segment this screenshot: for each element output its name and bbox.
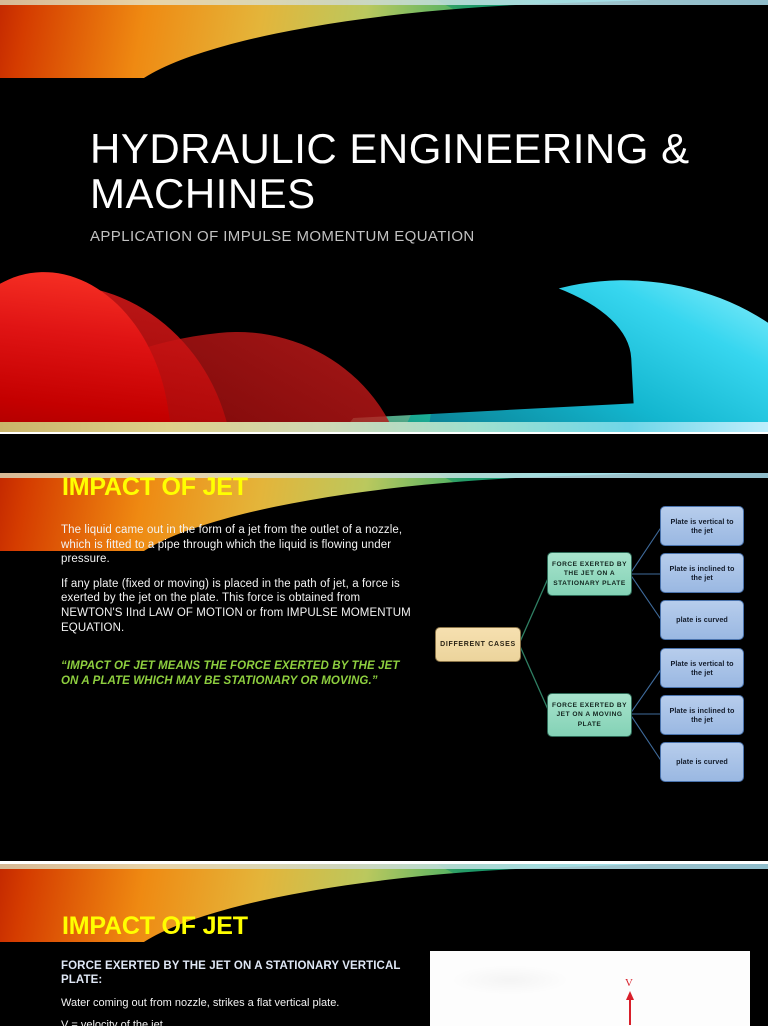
slide-impact-of-jet-overview: IMPACT OF JET The liquid came out in the…	[0, 434, 768, 861]
diagram-leaf-stationary-inclined[interactable]: Plate is inclined to the jet	[660, 553, 744, 593]
slide-body-text: FORCE EXERTED BY THE JET ON A STATIONARY…	[61, 959, 411, 1026]
diagram-node-moving-plate[interactable]: FORCE EXERTED BY JET ON A MOVING PLATE	[547, 693, 632, 737]
figure-scan-artifact	[450, 965, 570, 995]
velocity-arrow-stem-icon	[629, 999, 631, 1025]
slide-title: HYDRAULIC ENGINEERING & MACHINES APPLICA…	[0, 0, 768, 432]
slide-divider	[0, 432, 768, 433]
slide-body-text: The liquid came out in the form of a jet…	[61, 523, 421, 645]
slide-divider	[0, 861, 768, 862]
different-cases-diagram: DIFFERENT CASES FORCE EXERTED BY THE JET…	[425, 496, 768, 796]
slide-stationary-vertical-plate: IMPACT OF JET FORCE EXERTED BY THE JET O…	[0, 864, 768, 1026]
highlight-quote: “IMPACT OF JET MEANS THE FORCE EXERTED B…	[61, 659, 419, 688]
page-title: HYDRAULIC ENGINEERING & MACHINES	[90, 126, 710, 216]
page-subtitle: APPLICATION OF IMPULSE MOMENTUM EQUATION	[90, 228, 710, 245]
slide-heading: IMPACT OF JET	[62, 473, 248, 502]
section-subheading: FORCE EXERTED BY THE JET ON A STATIONARY…	[61, 959, 411, 987]
diagram-leaf-stationary-curved[interactable]: plate is curved	[660, 600, 744, 640]
diagram-leaf-stationary-vertical[interactable]: Plate is vertical to the jet	[660, 506, 744, 546]
diagram-leaf-moving-vertical[interactable]: Plate is vertical to the jet	[660, 648, 744, 688]
presentation-deck: HYDRAULIC ENGINEERING & MACHINES APPLICA…	[0, 0, 768, 1026]
top-decoration-artwork	[0, 0, 768, 78]
jet-plate-figure: V	[430, 951, 750, 1026]
diagram-leaf-moving-inclined[interactable]: Plate is inclined to the jet	[660, 695, 744, 735]
body-line-2: V = velocity of the jet	[61, 1018, 411, 1026]
diagram-leaf-moving-curved[interactable]: plate is curved	[660, 742, 744, 782]
velocity-label: V	[625, 977, 633, 989]
slide-heading: IMPACT OF JET	[62, 912, 248, 941]
bottom-decoration-artwork	[0, 272, 768, 432]
body-line-1: Water coming out from nozzle, strikes a …	[61, 996, 411, 1011]
diagram-node-stationary-plate[interactable]: FORCE EXERTED BY THE JET ON A STATIONARY…	[547, 552, 632, 596]
diagram-node-root[interactable]: DIFFERENT CASES	[435, 627, 521, 662]
paragraph-1: The liquid came out in the form of a jet…	[61, 523, 421, 567]
paragraph-2: If any plate (fixed or moving) is placed…	[61, 577, 421, 635]
